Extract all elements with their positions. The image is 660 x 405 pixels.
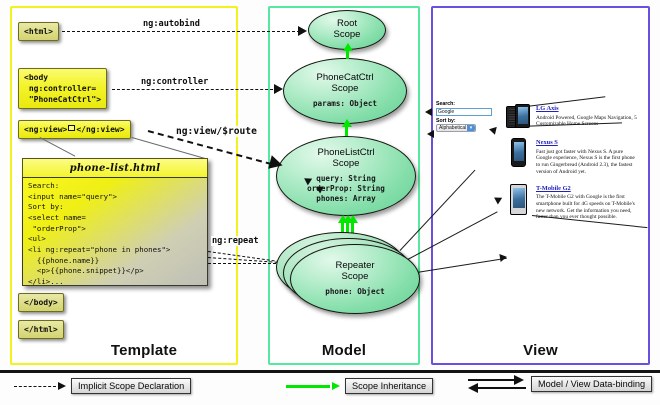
phone-info: Nexus S Fast just got faster with Nexus … xyxy=(531,138,640,176)
search-label: Search: xyxy=(436,101,498,107)
tag-html-end: </html> xyxy=(18,320,64,339)
callout-code: Search: <input name="query"> Sort by: <s… xyxy=(22,177,208,286)
list-item[interactable]: T-Mobile G2 The T-Mobile G2 with Google … xyxy=(505,184,650,222)
legend-label: Scope Inheritance xyxy=(345,378,433,394)
phone-snippet: Fast just got faster with Nexus S. A pur… xyxy=(536,149,640,176)
phone-name-link[interactable]: LG Axis xyxy=(536,105,640,112)
green-line-icon xyxy=(286,385,330,388)
phone-thumbnail-t-mobile-g2 xyxy=(505,184,531,222)
tag-ngview: <ng:view></ng:view> xyxy=(18,120,131,139)
edge-controller-arrow xyxy=(274,84,283,94)
legend-item-implicit-scope-declaration: Implicit Scope Declaration xyxy=(14,378,191,394)
binding-arrow-query-view xyxy=(425,108,432,116)
edge-autobind-line xyxy=(62,31,300,32)
edge-view-route-label: ng:view/$route xyxy=(175,126,258,137)
tag-body-end: </body> xyxy=(18,293,64,312)
tag-html: <html> xyxy=(18,22,59,41)
tag-body: <body ng:controller= "PhoneCatCtrl"> xyxy=(18,68,107,109)
legend-label: Implicit Scope Declaration xyxy=(71,378,191,394)
tag-ngview-close: </ng:view> xyxy=(76,125,124,134)
scope-repeater-props: phone: Object xyxy=(325,287,384,297)
sort-select[interactable]: Alphabetical ▾ xyxy=(436,124,476,132)
scope-repeater-title: Repeater Scope xyxy=(335,261,374,283)
arrow-head-green-icon xyxy=(332,382,340,390)
scope-repeater: Repeater Scope phone: Object xyxy=(290,244,420,314)
edge-autobind-arrow xyxy=(298,26,307,36)
edge-controller-line xyxy=(112,89,278,90)
phone-info: T-Mobile G2 The T-Mobile G2 with Google … xyxy=(531,184,640,222)
edge-repeat-label: ng:repeat xyxy=(211,236,260,246)
scope-root-title: Root Scope xyxy=(334,19,361,41)
arrow-head-icon xyxy=(58,382,66,390)
scope-phonecatctrl-props: params: Object xyxy=(313,99,377,109)
callout-title: phone-list.html xyxy=(22,158,208,177)
scope-phonelistctrl-title: PhoneListCtrl Scope xyxy=(317,148,374,170)
phone-thumbnail-lg-axis xyxy=(505,104,531,130)
chevron-down-icon: ▾ xyxy=(467,125,475,131)
sort-label: Sort by: xyxy=(436,118,498,124)
ngview-placeholder-square xyxy=(68,125,75,131)
list-item[interactable]: Nexus S Fast just got faster with Nexus … xyxy=(505,138,650,176)
scope-phonecatctrl-title: PhoneCatCtrl Scope xyxy=(316,73,373,95)
phone-name-link[interactable]: Nexus S xyxy=(536,139,640,146)
legend-item-model-view-data-binding: Model / View Data-binding xyxy=(468,376,652,392)
tag-ngview-open: <ng:view> xyxy=(24,125,67,134)
phone-snippet: The T-Mobile G2 with Google is the first… xyxy=(536,194,640,221)
phone-info: LG Axis Android Powered, Google Maps Nav… xyxy=(531,104,640,130)
legend: Implicit Scope Declaration Scope Inherit… xyxy=(0,376,660,403)
scope-phonecatctrl: PhoneCatCtrl Scope params: Object xyxy=(283,58,407,124)
search-input[interactable]: Google xyxy=(436,108,492,116)
phone-list: LG Axis Android Powered, Google Maps Nav… xyxy=(505,104,650,225)
callout-phone-list-html: phone-list.html Search: <input name="que… xyxy=(22,158,208,286)
column-label-view: View xyxy=(433,342,648,359)
bidirectional-arrow-icon xyxy=(468,376,526,392)
diagram-canvas: Template Model View <html> <body ng:cont… xyxy=(0,0,660,405)
phone-thumbnail-nexus-s xyxy=(505,138,531,176)
column-label-model: Model xyxy=(270,342,418,359)
binding-arrow-repeater-3 xyxy=(499,253,507,262)
legend-separator xyxy=(0,370,660,373)
phone-name-link[interactable]: T-Mobile G2 xyxy=(536,185,640,192)
phone-snippet: Android Powered, Google Maps Navigation,… xyxy=(536,115,640,129)
legend-item-scope-inheritance: Scope Inheritance xyxy=(286,378,433,394)
legend-label: Model / View Data-binding xyxy=(531,376,652,392)
sort-select-value: Alphabetical xyxy=(439,125,466,131)
view-search-form: Search: Google Sort by: Alphabetical ▾ xyxy=(436,101,498,132)
edge-repeat-line-3 xyxy=(208,263,286,264)
dashed-line-icon xyxy=(14,386,56,387)
column-label-template: Template xyxy=(12,342,236,359)
edge-controller-label: ng:controller xyxy=(140,77,209,87)
edge-autobind-label: ng:autobind xyxy=(142,19,201,29)
scope-phonelistctrl: PhoneListCtrl Scope query: String orderP… xyxy=(276,136,416,216)
list-item[interactable]: LG Axis Android Powered, Google Maps Nav… xyxy=(505,104,650,130)
binding-arrow-orderprop-view xyxy=(427,130,434,138)
